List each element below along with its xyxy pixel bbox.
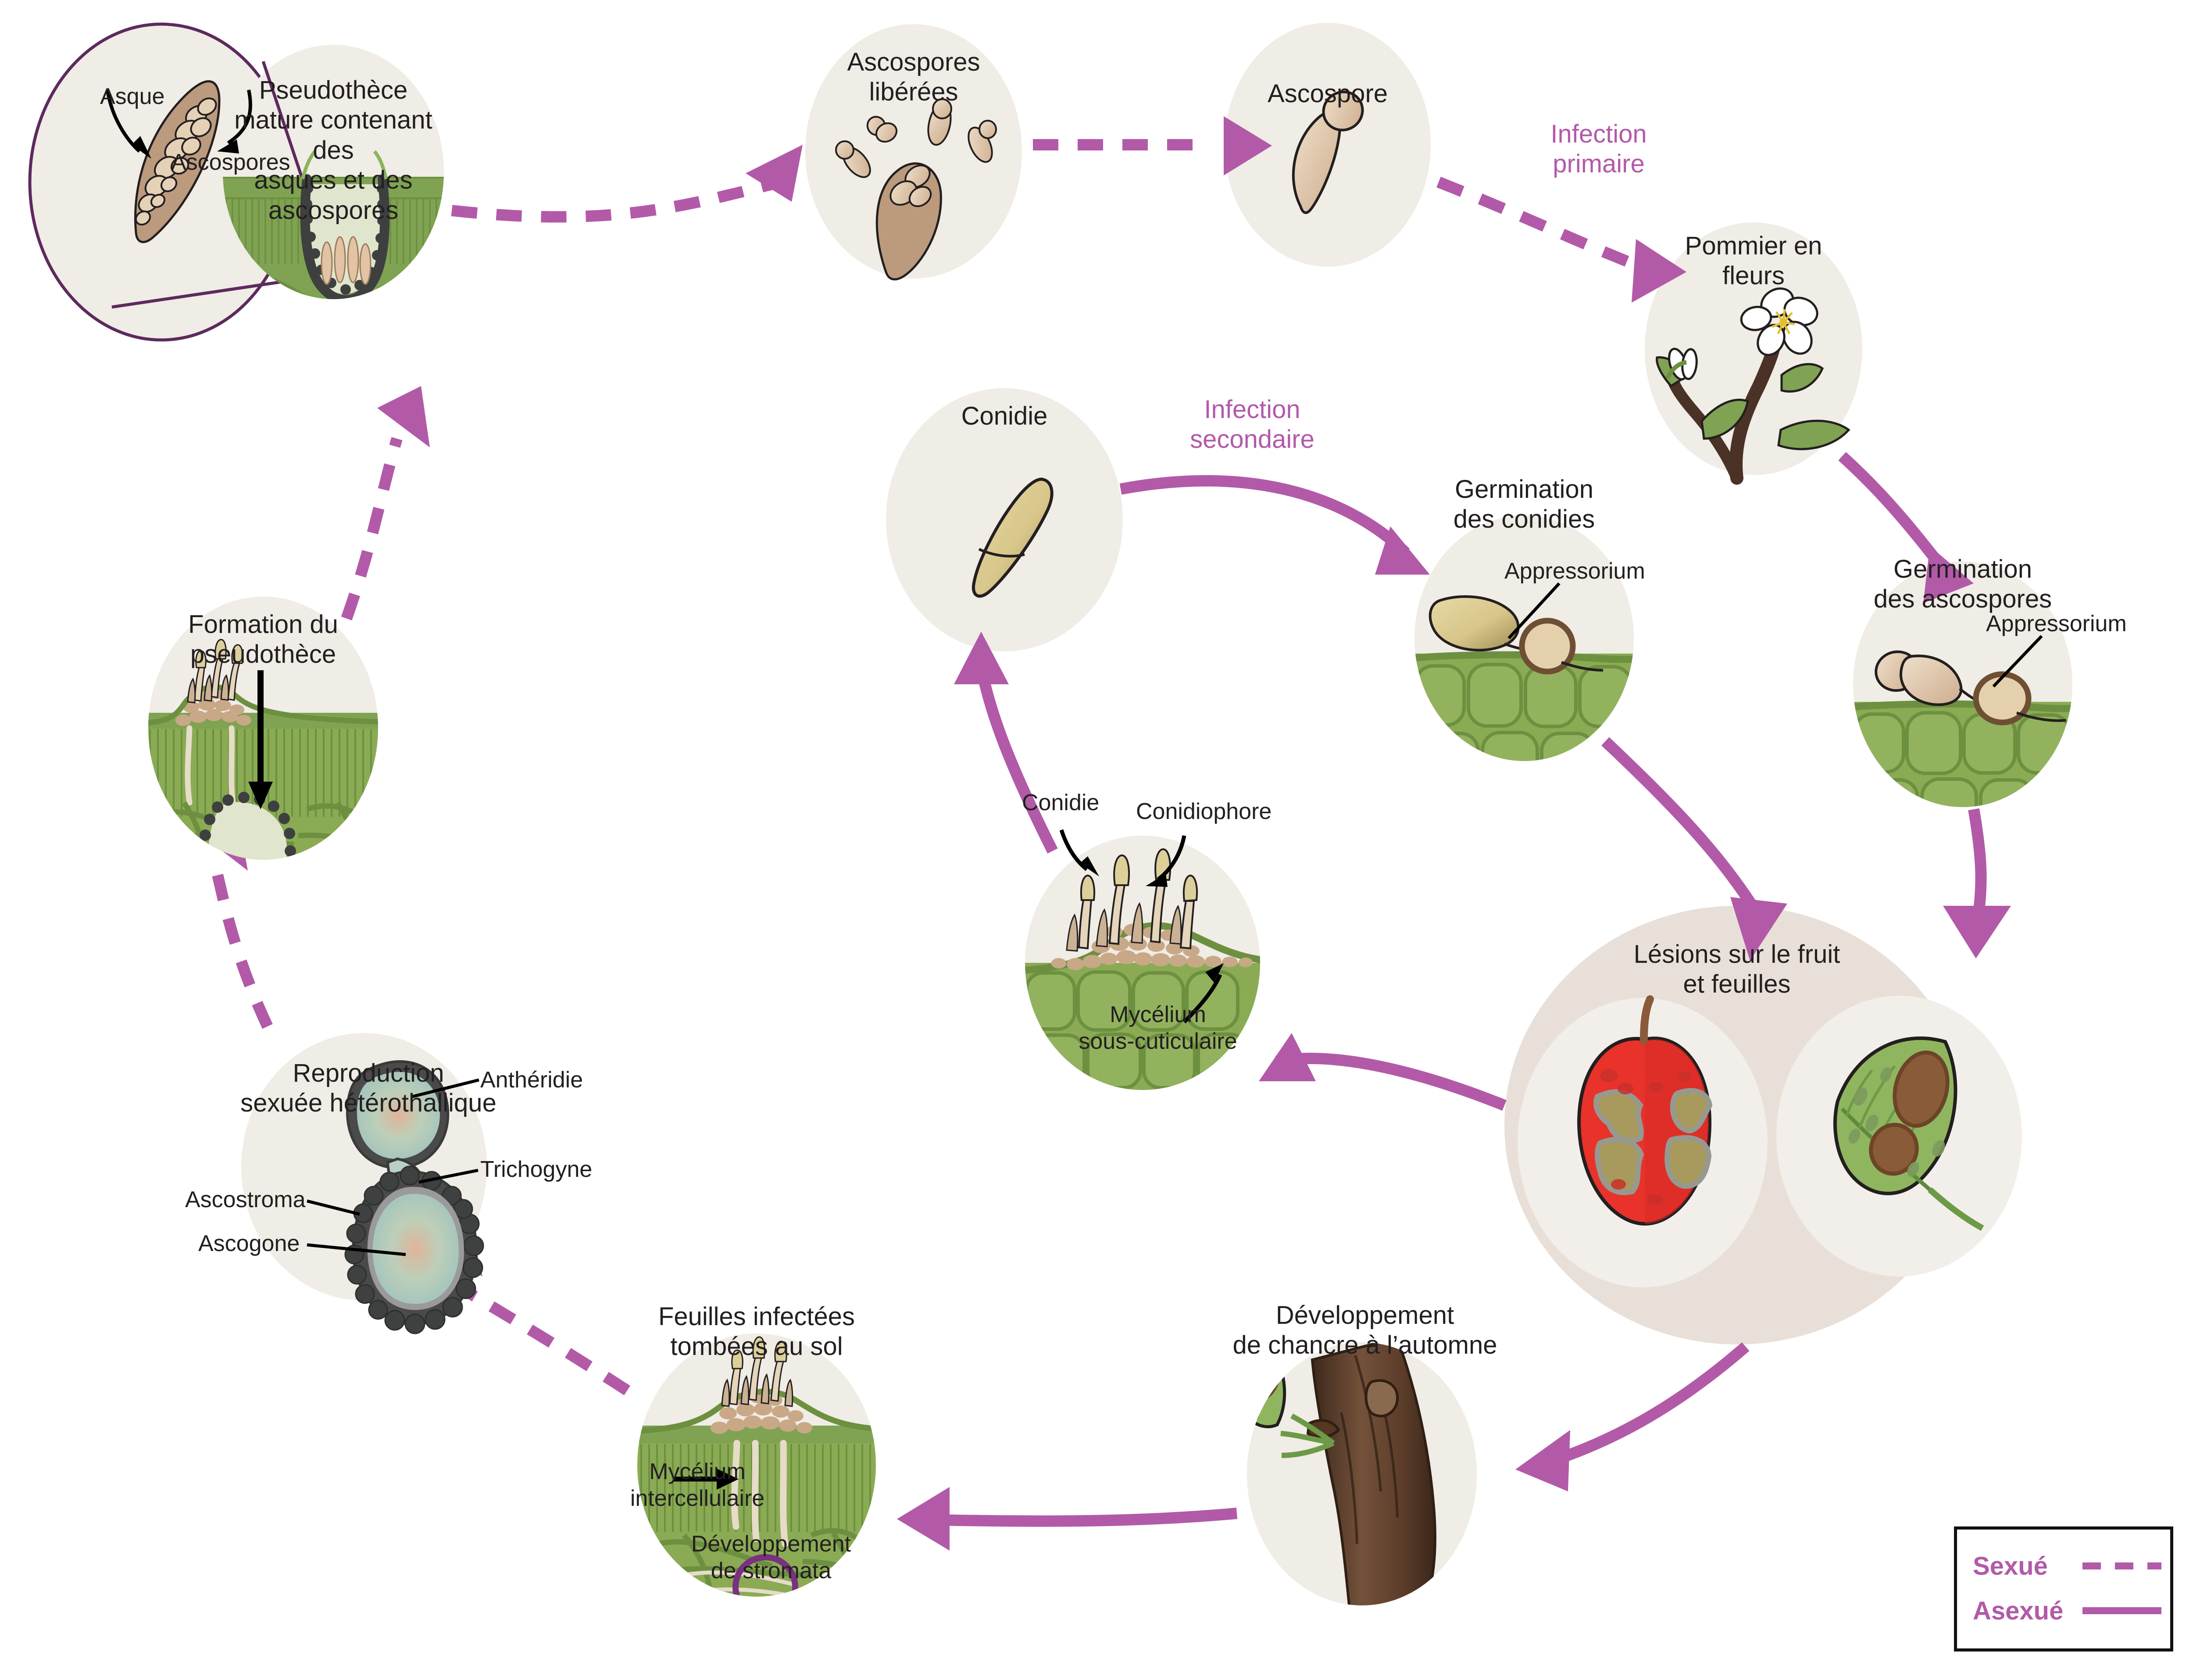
flow-label-infection-secondaire: Infection secondaire (1160, 395, 1344, 455)
arrow-reproduction-to-formation (217, 873, 268, 1026)
young-asci (226, 860, 271, 886)
arrow-conidie-to-germination (1121, 481, 1406, 553)
bark-lesion (1366, 1380, 1398, 1416)
callout-developpement-stromata: Développement de stromata (679, 1531, 863, 1585)
arrow-ascospore-to-pommier (1439, 182, 1632, 263)
arrow-pommier-to-germ-ascospores (1842, 456, 1941, 566)
arrow-pseudotheque-to-ascospores (452, 180, 789, 217)
spore (836, 141, 854, 159)
head-to-pseudotheque (377, 386, 430, 447)
arrow-germ-ascospores-to-lesions (1974, 809, 1981, 917)
legend-swatch-dashed (2082, 1562, 2161, 1569)
legend-row-asexue: Asexué (1973, 1595, 2161, 1626)
flow-label-infection-primaire: Infection primaire (1507, 119, 1691, 179)
legend-row-sexue: Sexué (1973, 1551, 2161, 1581)
callout-conidiophore: Conidiophore (1136, 798, 1272, 825)
callout-ascospores: Ascospores (171, 149, 290, 176)
callout-antheridie: Anthéridie (480, 1067, 583, 1094)
callout-appressorium-conidies: Appressorium (1504, 558, 1645, 585)
legend-label-sexue: Sexué (1973, 1551, 2048, 1581)
arrow-mycelium-to-conidie (980, 662, 1053, 851)
arrow-lesions-to-chancre (1553, 1347, 1746, 1461)
callout-ascostroma: Ascostroma (185, 1187, 306, 1213)
arrow-germ-conidies-to-lesions (1605, 741, 1757, 912)
callout-asque: Asque (100, 83, 164, 110)
head-germ-asc-to-lesions (1943, 906, 2011, 958)
callout-conidie: Conidie (1022, 790, 1099, 816)
legend: Sexué Asexué (1954, 1526, 2173, 1651)
head-to-ascospores (746, 145, 803, 202)
lifecycle-diagram: Pseudothèce mature contenant des asques … (0, 0, 2193, 1680)
diagram-artwork (0, 0, 2193, 1680)
arrow-formation-to-pseudotheque (346, 439, 397, 618)
callout-ascogone: Ascogone (198, 1230, 300, 1257)
legend-label-asexue: Asexué (1973, 1596, 2063, 1626)
antheridie-cytoplasm (357, 1072, 440, 1159)
callout-mycelium-sous-cuticulaire: Mycélium sous-cuticulaire (1061, 1001, 1254, 1055)
head-chancre-to-feuilles (897, 1487, 950, 1551)
arrow-chancre-to-feuilles (934, 1513, 1237, 1521)
legend-swatch-solid (2082, 1607, 2161, 1614)
leaf-lower-right (1779, 421, 1849, 449)
head-lesions-to-chancre (1515, 1430, 1570, 1491)
spore (979, 121, 996, 138)
callout-trichogyne: Trichogyne (480, 1156, 592, 1183)
arrow-feuilles-to-reproduction (456, 1285, 627, 1390)
callout-appressorium-ascospores: Appressorium (1986, 611, 2127, 637)
ascogone-cytoplasm (373, 1194, 459, 1304)
callout-mycelium-intercellulaire: Mycélium intercellulaire (618, 1458, 776, 1512)
spore (933, 99, 951, 118)
arrow-lesions-to-mycelium (1276, 1058, 1504, 1105)
